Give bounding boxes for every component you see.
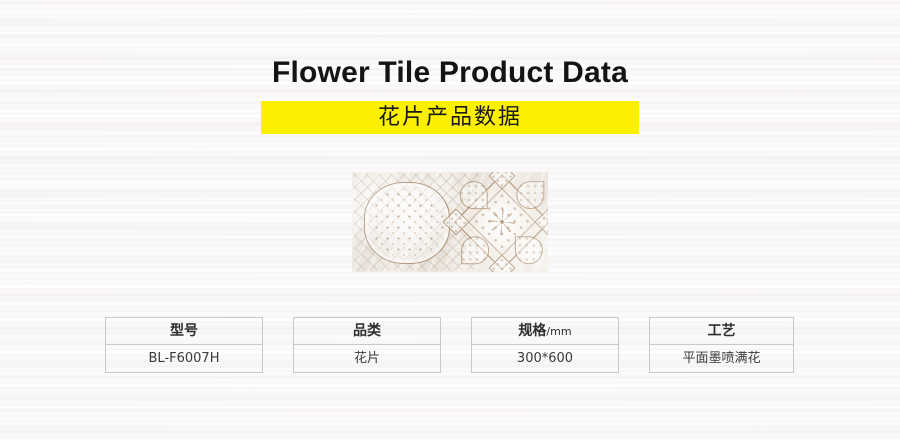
spec-header-model: 型号: [106, 318, 262, 345]
medallion-petal-icon: [461, 236, 489, 264]
spec-value-model: BL-F6007H: [106, 345, 262, 372]
title-block: Flower Tile Product Data 花片产品数据: [0, 54, 900, 134]
medallion-petal-icon: [516, 181, 544, 209]
medallion-petal-icon: [460, 181, 488, 209]
tile-medallion-ornament: [454, 174, 548, 270]
product-detail-page: Flower Tile Product Data 花片产品数据 型号 BL-F: [0, 0, 900, 441]
spec-header-specification: 规格/mm: [472, 318, 618, 345]
spec-header-label: 工艺: [708, 323, 736, 339]
medallion-petal-icon: [515, 236, 543, 264]
spec-header-label: 型号: [170, 323, 198, 339]
spec-header-category: 品类: [294, 318, 440, 345]
spec-column-model: 型号 BL-F6007H: [105, 317, 263, 373]
tile-quatrefoil-ornament: [364, 182, 450, 264]
spec-header-craft: 工艺: [650, 318, 793, 345]
product-tile-image: [352, 172, 548, 272]
subtitle-highlight-bar: 花片产品数据: [261, 101, 639, 134]
spec-table: 型号 BL-F6007H 品类 花片 规格/mm 300*600 工艺 平面墨喷…: [105, 317, 794, 373]
spec-column-specification: 规格/mm 300*600: [471, 317, 619, 373]
spec-header-label: 规格: [518, 323, 546, 339]
spec-value-category: 花片: [294, 345, 440, 372]
page-title: Flower Tile Product Data: [0, 54, 900, 92]
page-subtitle: 花片产品数据: [378, 101, 522, 134]
spec-column-craft: 工艺 平面墨喷满花: [649, 317, 794, 373]
medallion-corner-icon: [489, 255, 516, 272]
spec-value-craft: 平面墨喷满花: [650, 345, 793, 372]
spec-column-category: 品类 花片: [293, 317, 441, 373]
spec-header-label: 品类: [353, 323, 381, 339]
spec-value-specification: 300*600: [472, 345, 618, 372]
spec-header-unit: /mm: [546, 325, 571, 338]
